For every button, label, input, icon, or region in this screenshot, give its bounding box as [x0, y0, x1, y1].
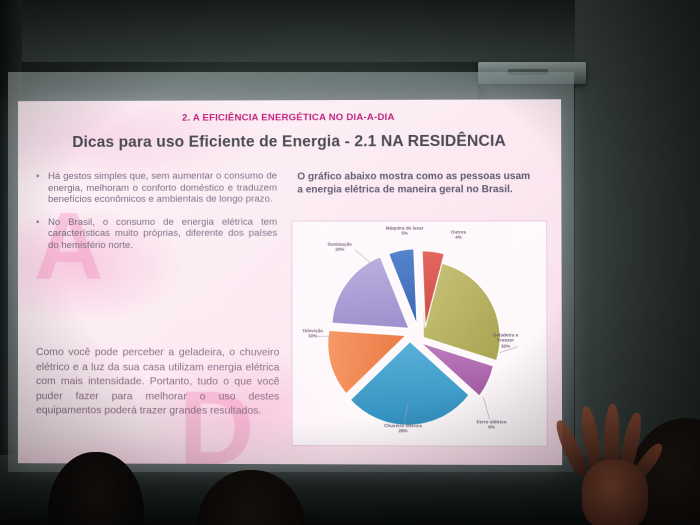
- bullet-item: ▪ Há gestos simples que, sem aumentar o …: [36, 171, 277, 206]
- slide-kicker: 2. A EFICIÊNCIA ENERGÉTICA NO DIA-A-DIA: [18, 111, 561, 124]
- projected-slide: A D 2. A EFICIÊNCIA ENERGÉTICA NO DIA-A-…: [18, 99, 562, 465]
- pie-label-value: 4%: [438, 235, 479, 240]
- photo-scene: A D 2. A EFICIÊNCIA ENERGÉTICA NO DIA-A-…: [0, 0, 700, 525]
- pie-label-maquina-de-lavar: Máquina de lavar 5%: [373, 226, 436, 237]
- pie-graphic: Máquina de lavar 5% Outros 4% Iluminação…: [311, 236, 527, 434]
- pie-label-iluminacao: Iluminação 20%: [317, 242, 364, 253]
- pie-label-geladeira-e-freezer: Geladeira e Freezer 30%: [485, 332, 526, 348]
- pie-label-value: 28%: [372, 429, 435, 435]
- pie-label-value: 20%: [317, 247, 364, 252]
- pie-label-value: 5%: [373, 231, 436, 237]
- pie-label-name: Chuveiro elétrico: [384, 423, 422, 428]
- pie-label-value: 30%: [485, 343, 526, 349]
- chart-container: Máquina de lavar 5% Outros 4% Iluminação…: [291, 220, 548, 447]
- pie-label-name: Máquina de lavar: [386, 226, 424, 231]
- pie-label-name: Televisão: [302, 328, 323, 333]
- slide-background-blob: [18, 431, 310, 465]
- slide-headline: Dicas para uso Eficiente de Energia - 2.…: [18, 133, 561, 153]
- palm: [582, 460, 648, 525]
- raised-hand: [560, 400, 670, 525]
- pie-label-name: Geladeira e Freezer: [493, 332, 518, 343]
- slide-right-intro: O gráfico abaixo mostra como as pessoas …: [297, 170, 537, 197]
- bullet-marker-icon: ▪: [36, 217, 48, 252]
- pie-label-ferro-eletrico: Ferro elétrico 6%: [465, 419, 518, 430]
- bullet-marker-icon: ▪: [36, 171, 48, 206]
- bullet-text: No Brasil, o consumo de energia elétrica…: [48, 216, 277, 251]
- pie-label-name: Ferro elétrico: [477, 419, 507, 424]
- pie-label-value: 6%: [465, 425, 518, 431]
- pie-label-televisao: Televisão 10%: [294, 328, 330, 339]
- slide-left-column: ▪ Há gestos simples que, sem aumentar o …: [36, 171, 277, 263]
- pie-label-name: Iluminação: [328, 242, 352, 247]
- pie-label-name: Outros: [451, 230, 466, 235]
- bullet-item: ▪ No Brasil, o consumo de energia elétri…: [36, 216, 277, 251]
- pie-label-chuveiro-eletrico: Chuveiro elétrico 28%: [372, 423, 435, 434]
- pie-chart: Máquina de lavar 5% Outros 4% Iluminação…: [292, 221, 547, 445]
- pie-label-outros: Outros 4%: [438, 230, 479, 241]
- pie-label-value: 10%: [294, 334, 330, 339]
- slide-paragraph: Como você pode perceber a geladeira, o c…: [36, 346, 279, 420]
- bullet-text: Há gestos simples que, sem aumentar o co…: [48, 171, 277, 206]
